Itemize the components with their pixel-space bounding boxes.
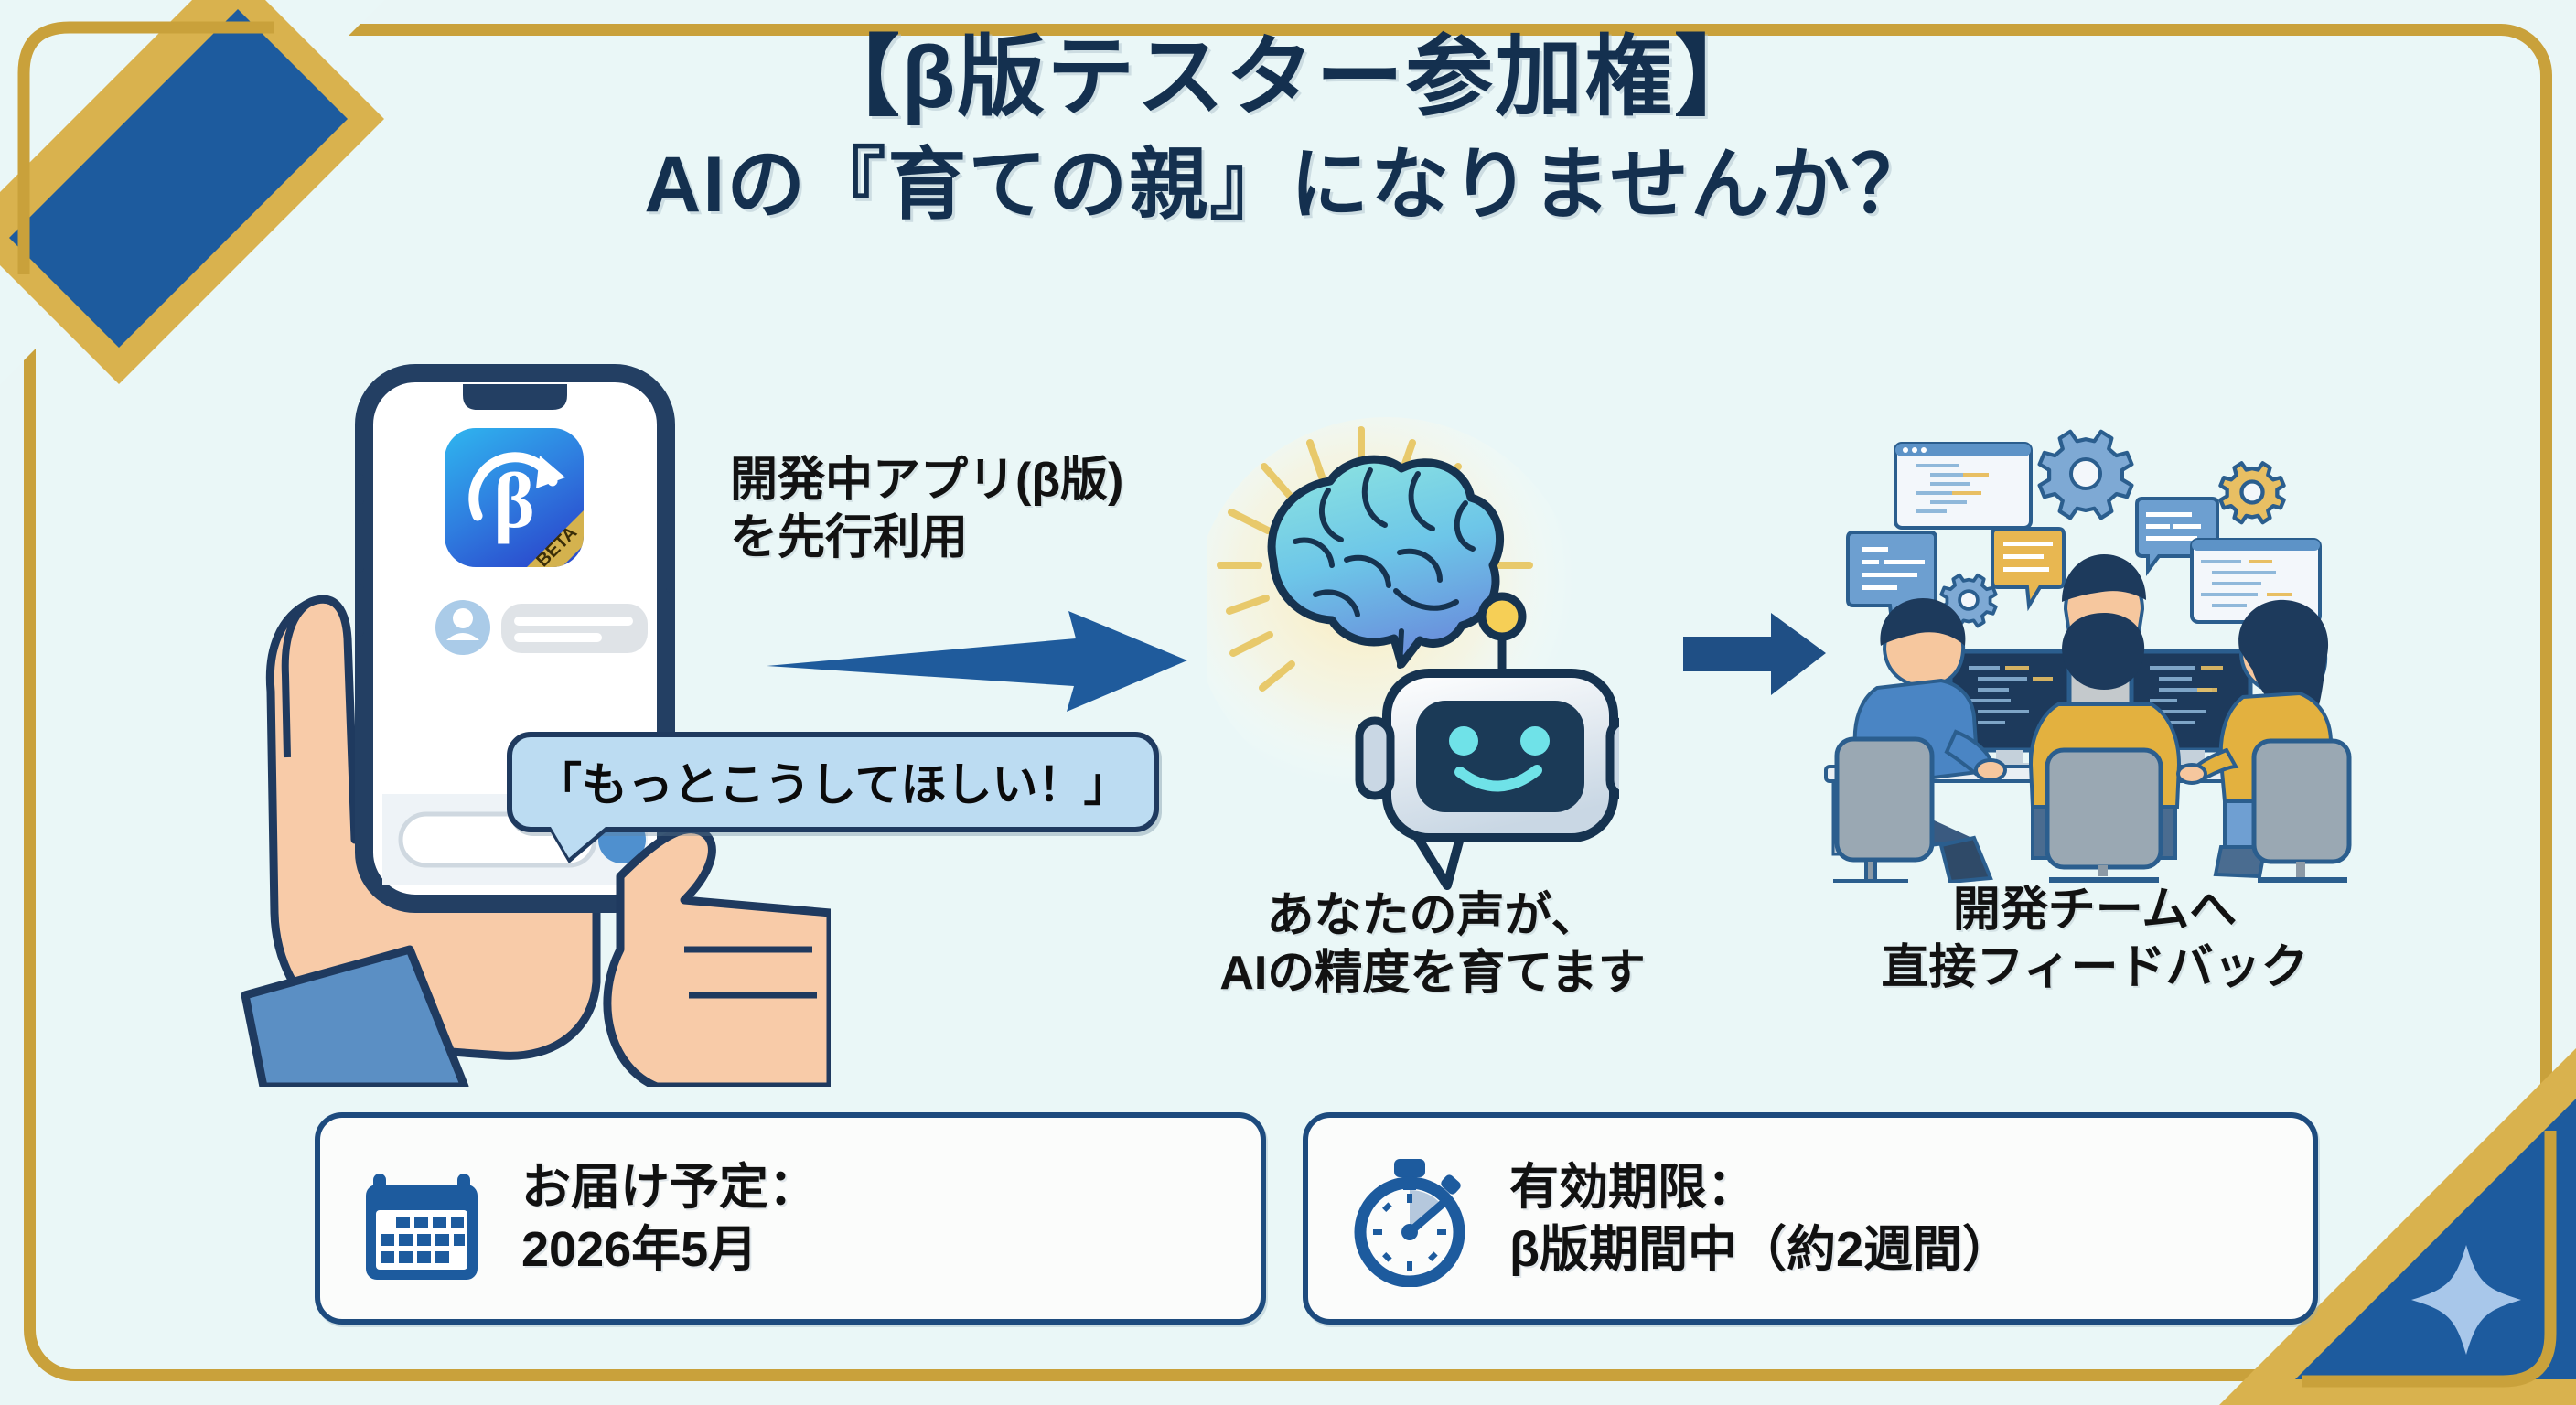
app-icon-beta: β BETA: [445, 428, 584, 571]
calendar-icon: [353, 1150, 490, 1287]
chair-middle: [2047, 750, 2161, 880]
gear-icon-gold: [2220, 463, 2283, 522]
page-title-line1: 【β版テスター参加権】: [0, 26, 2576, 129]
delivery-schedule-card: お届け予定： 2026年5月: [315, 1112, 1266, 1325]
chat-bubble-orange: [1992, 529, 2064, 606]
delivery-schedule-text: お届け予定： 2026年5月: [521, 1156, 818, 1281]
dev-team-illustration: [1813, 402, 2362, 883]
svg-text:β: β: [493, 456, 534, 544]
poster-canvas: 【β版テスター参加権】 AIの『育ての親』になりませんか？: [0, 0, 2576, 1405]
stopwatch-icon: [1341, 1150, 1478, 1287]
step2-caption: あなたの声が、 AIの精度を育てます: [1149, 887, 1716, 1003]
arrow-right-long-icon: [767, 604, 1197, 723]
step1-caption: 開発中アプリ(β版) を先行利用: [730, 452, 1123, 568]
chat-message-row: [435, 600, 648, 655]
ai-brain-robot-illustration: [1207, 402, 1619, 896]
chair-left: [1833, 739, 1932, 883]
validity-period-text: 有効期限： β版期間中（約2週間）: [1509, 1156, 2012, 1281]
validity-period-card: 有効期限： β版期間中（約2週間）: [1303, 1112, 2318, 1325]
page-title-line2: AIの『育ての親』になりませんか？: [0, 138, 2576, 232]
title-block: 【β版テスター参加権】 AIの『育ての親』になりませんか？: [0, 26, 2576, 232]
step3-caption: 開発チームへ 直接フィードバック: [1793, 882, 2397, 998]
code-window-icon: [1895, 444, 2031, 528]
pointing-hand: [607, 830, 831, 1087]
chair-right: [2254, 741, 2349, 880]
user-feedback-speech-bubble: 「もっとこうしてほしい！」: [507, 732, 1159, 832]
arrow-right-short-icon: [1683, 595, 1830, 713]
gear-icon-large: [2040, 432, 2132, 519]
